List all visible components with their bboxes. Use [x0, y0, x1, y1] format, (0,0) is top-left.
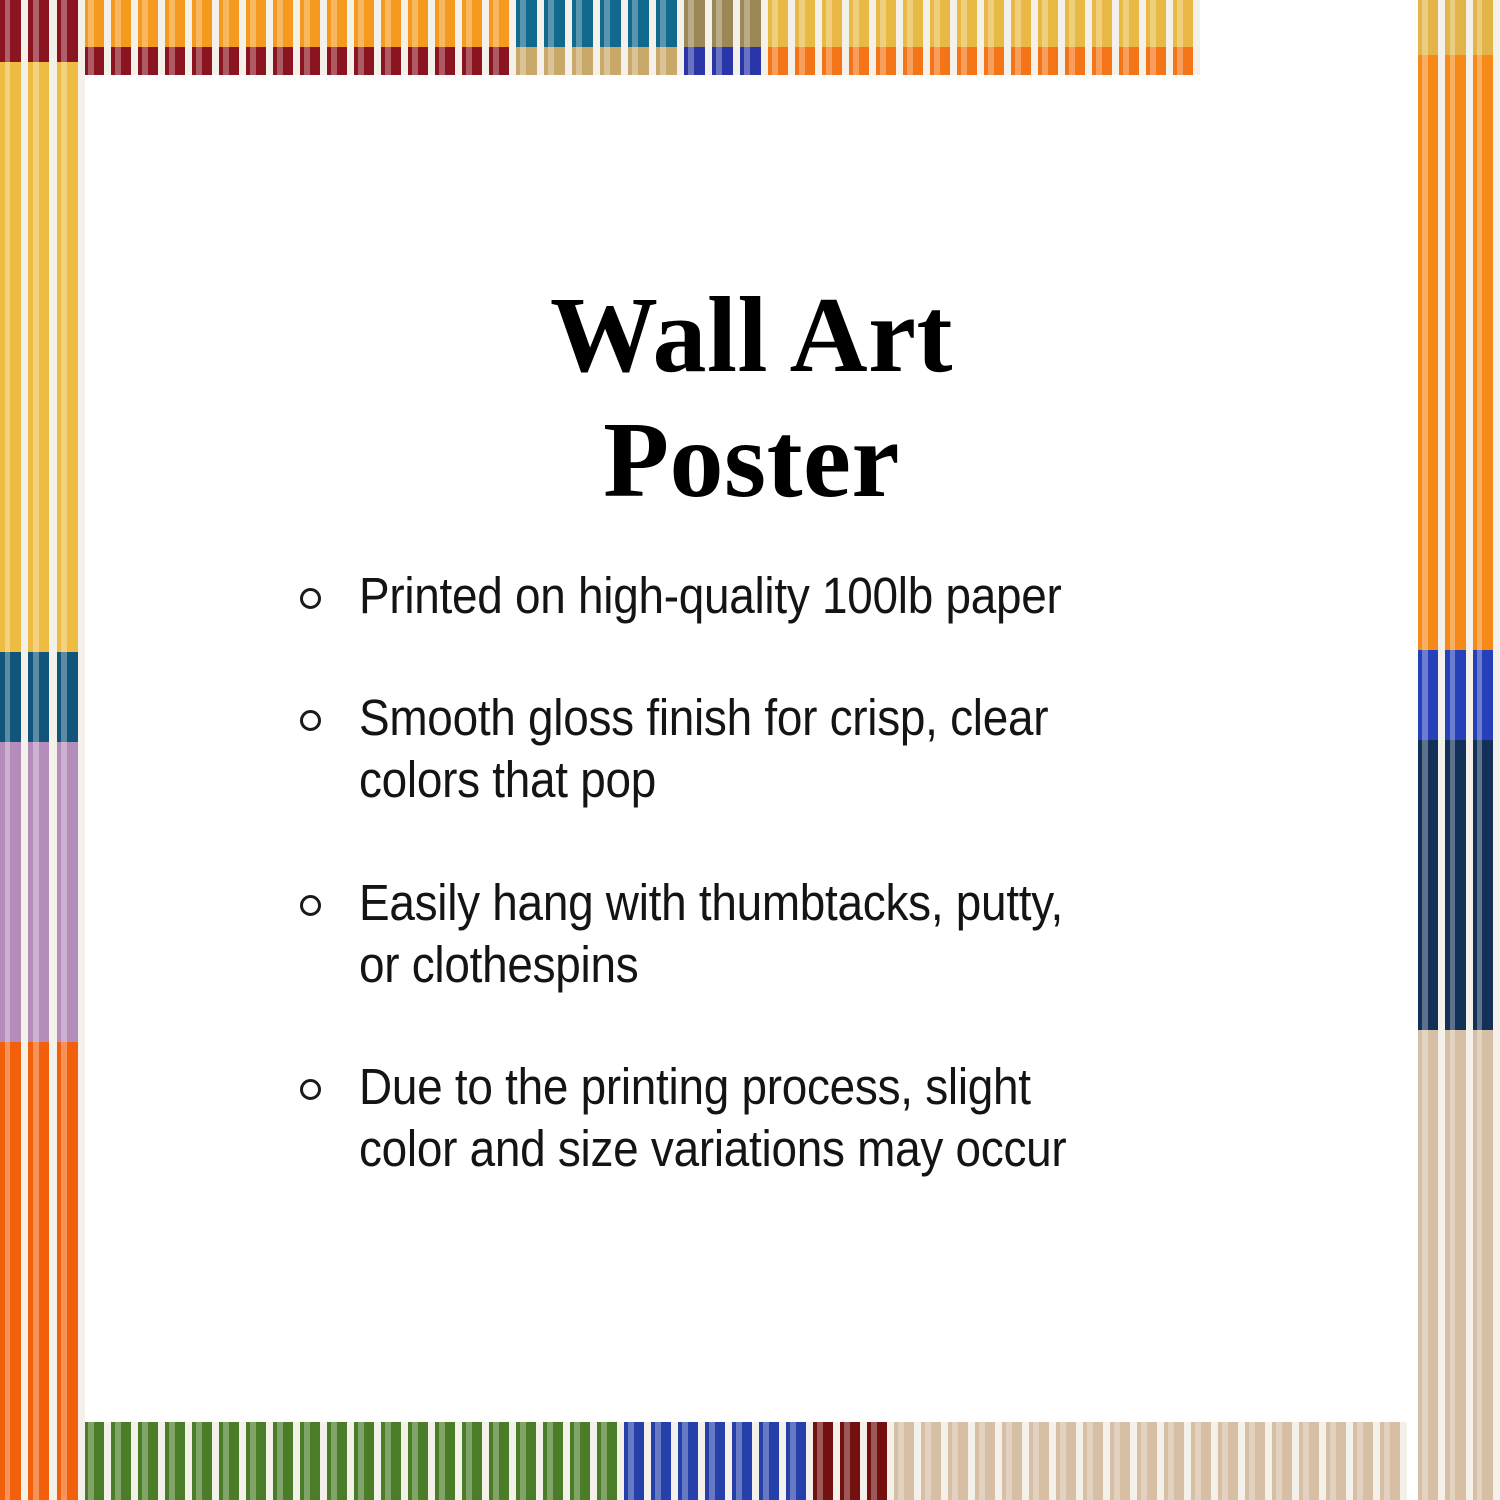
border-pencil-stripe	[462, 1422, 489, 1500]
border-pencil-stripe	[759, 1422, 786, 1500]
border-pencil-stripe	[624, 1422, 651, 1500]
border-stripe-segment	[1418, 0, 1500, 55]
border-pencil-stripe	[1173, 0, 1200, 75]
border-pencil-stripe	[1445, 1030, 1472, 1500]
border-stripe-segment	[0, 1042, 85, 1500]
border-pencil-stripe	[408, 0, 435, 75]
border-pencil-stripe	[1473, 650, 1500, 740]
border-pencil-stripe	[1445, 55, 1472, 650]
border-pencil-stripe	[840, 1422, 867, 1500]
border-pencil-stripe	[678, 1422, 705, 1500]
border-pencil-stripe	[867, 1422, 894, 1500]
border-pencil-stripe	[1326, 1422, 1353, 1500]
border-pencil-stripe	[57, 0, 85, 62]
border-pencil-stripe	[1445, 740, 1472, 1030]
border-pencil-stripe	[516, 0, 544, 75]
border-pencil-stripe	[1146, 0, 1173, 75]
border-pencil-stripe	[1065, 0, 1092, 75]
border-pencil-stripe	[219, 1422, 246, 1500]
title-line-one: Wall Art	[85, 273, 1418, 398]
border-pencil-stripe	[795, 0, 822, 75]
border-pencil-stripe	[1110, 1422, 1137, 1500]
border-pencil-stripe	[57, 1042, 85, 1500]
border-pencil-stripe	[84, 0, 111, 75]
border-pencil-stripe	[273, 1422, 300, 1500]
border-pencil-stripe	[165, 0, 192, 75]
border-pencil-stripe	[1445, 0, 1472, 55]
border-pencil-stripe	[1083, 1422, 1110, 1500]
border-top-pencil-band	[0, 0, 1500, 75]
border-pencil-stripe	[1418, 650, 1445, 740]
feature-text: Easily hang with thumbtacks, putty, or c…	[359, 872, 1063, 996]
border-pencil-stripe	[1245, 1422, 1272, 1500]
border-pencil-stripe	[111, 0, 138, 75]
border-pencil-stripe	[57, 62, 85, 652]
border-pencil-stripe	[327, 1422, 354, 1500]
border-pencil-stripe	[1038, 0, 1065, 75]
border-pencil-stripe	[822, 0, 849, 75]
border-pencil-stripe	[489, 0, 516, 75]
border-pencil-stripe	[712, 0, 740, 75]
list-item: Printed on high-quality 100lb paper	[300, 565, 1338, 627]
border-pencil-stripe	[408, 1422, 435, 1500]
border-pencil-stripe	[28, 652, 56, 742]
border-stripe-segment	[0, 742, 85, 1042]
border-pencil-stripe	[1191, 1422, 1218, 1500]
border-right-stripe-band	[1418, 0, 1500, 1500]
border-pencil-stripe	[1056, 1422, 1083, 1500]
border-pencil-stripe	[957, 0, 984, 75]
border-pencil-stripe	[192, 0, 219, 75]
border-pencil-stripe	[246, 1422, 273, 1500]
border-pencil-stripe	[1445, 650, 1472, 740]
border-pencil-stripe	[1473, 1030, 1500, 1500]
border-pencil-stripe	[300, 0, 327, 75]
border-pencil-stripe	[1418, 55, 1445, 650]
feature-text: Printed on high-quality 100lb paper	[359, 565, 1062, 627]
border-pencil-stripe	[1418, 0, 1445, 55]
border-pencil-stripe	[921, 1422, 948, 1500]
border-stripe-segment	[1418, 650, 1500, 740]
border-pencil-stripe	[600, 0, 628, 75]
border-pencil-stripe	[516, 1422, 543, 1500]
border-pencil-stripe	[28, 62, 56, 652]
border-pencil-stripe	[628, 0, 656, 75]
border-pencil-stripe	[28, 1042, 56, 1500]
border-pencil-stripe	[165, 1422, 192, 1500]
border-pencil-stripe	[570, 1422, 597, 1500]
list-item: Due to the printing process, slight colo…	[300, 1056, 1338, 1180]
feature-text: Due to the printing process, slight colo…	[359, 1056, 1066, 1180]
border-pencil-stripe	[984, 0, 1011, 75]
border-pencil-stripe	[0, 1042, 28, 1500]
border-pencil-stripe	[656, 0, 684, 75]
border-pencil-stripe	[489, 1422, 516, 1500]
border-pencil-stripe	[1473, 740, 1500, 1030]
border-pencil-stripe	[903, 0, 930, 75]
border-pencil-stripe	[435, 0, 462, 75]
border-pencil-stripe	[684, 0, 712, 75]
border-pencil-stripe	[0, 0, 28, 62]
border-pencil-stripe	[1473, 0, 1500, 55]
border-pencil-stripe	[0, 742, 28, 1042]
border-pencil-stripe	[732, 1422, 759, 1500]
product-info-poster: Wall Art Poster Printed on high-quality …	[0, 0, 1500, 1500]
border-pencil-stripe	[930, 0, 957, 75]
bullet-circle-icon	[300, 710, 321, 731]
bullet-circle-icon	[300, 895, 321, 916]
feature-text: Smooth gloss finish for crisp, clear col…	[359, 687, 1048, 811]
border-pencil-stripe	[597, 1422, 624, 1500]
border-pencil-stripe	[381, 1422, 408, 1500]
border-stripe-segment	[1418, 740, 1500, 1030]
border-stripe-segment	[1418, 1030, 1500, 1500]
list-item: Smooth gloss finish for crisp, clear col…	[300, 687, 1338, 811]
border-pencil-stripe	[975, 1422, 1002, 1500]
border-pencil-stripe	[219, 0, 246, 75]
border-stripe-segment	[1418, 55, 1500, 650]
border-pencil-stripe	[273, 0, 300, 75]
border-pencil-stripe	[894, 1422, 921, 1500]
border-pencil-stripe	[84, 1422, 111, 1500]
border-pencil-stripe	[876, 0, 903, 75]
border-pencil-stripe	[705, 1422, 732, 1500]
border-bottom-pencil-band	[0, 1422, 1500, 1500]
title-line-two: Poster	[85, 398, 1418, 523]
border-pencil-stripe	[1418, 740, 1445, 1030]
border-left-stripe-band	[0, 0, 85, 1500]
border-pencil-stripe	[813, 1422, 840, 1500]
border-pencil-stripe	[1272, 1422, 1299, 1500]
feature-list: Printed on high-quality 100lb paperSmoot…	[300, 565, 1338, 1181]
border-pencil-stripe	[1380, 1422, 1407, 1500]
border-pencil-stripe	[57, 652, 85, 742]
border-pencil-stripe	[327, 0, 354, 75]
border-pencil-stripe	[354, 1422, 381, 1500]
content-card: Wall Art Poster Printed on high-quality …	[85, 75, 1418, 1422]
list-item: Easily hang with thumbtacks, putty, or c…	[300, 872, 1338, 996]
bullet-circle-icon	[300, 588, 321, 609]
border-pencil-stripe	[381, 0, 408, 75]
border-pencil-stripe	[1092, 0, 1119, 75]
border-pencil-stripe	[740, 0, 768, 75]
border-pencil-stripe	[1011, 0, 1038, 75]
bullet-circle-icon	[300, 1079, 321, 1100]
border-pencil-stripe	[1299, 1422, 1326, 1500]
border-pencil-stripe	[1473, 55, 1500, 650]
border-pencil-stripe	[768, 0, 795, 75]
border-pencil-stripe	[1218, 1422, 1245, 1500]
border-stripe-segment	[0, 62, 85, 652]
border-pencil-stripe	[192, 1422, 219, 1500]
border-pencil-stripe	[849, 0, 876, 75]
border-pencil-stripe	[651, 1422, 678, 1500]
border-pencil-stripe	[57, 742, 85, 1042]
border-pencil-stripe	[544, 0, 572, 75]
border-pencil-stripe	[1002, 1422, 1029, 1500]
border-pencil-stripe	[1137, 1422, 1164, 1500]
border-pencil-stripe	[948, 1422, 975, 1500]
border-pencil-stripe	[0, 652, 28, 742]
border-pencil-stripe	[28, 742, 56, 1042]
border-pencil-stripe	[1029, 1422, 1056, 1500]
page-title: Wall Art Poster	[85, 273, 1418, 524]
border-pencil-stripe	[354, 0, 381, 75]
border-pencil-stripe	[435, 1422, 462, 1500]
border-pencil-stripe	[1418, 1030, 1445, 1500]
border-pencil-stripe	[138, 1422, 165, 1500]
border-pencil-stripe	[111, 1422, 138, 1500]
border-pencil-stripe	[138, 0, 165, 75]
border-pencil-stripe	[300, 1422, 327, 1500]
border-pencil-stripe	[1119, 0, 1146, 75]
border-pencil-stripe	[543, 1422, 570, 1500]
border-pencil-stripe	[246, 0, 273, 75]
border-pencil-stripe	[462, 0, 489, 75]
border-pencil-stripe	[1164, 1422, 1191, 1500]
border-stripe-segment	[0, 652, 85, 742]
border-pencil-stripe	[1353, 1422, 1380, 1500]
border-pencil-stripe	[786, 1422, 813, 1500]
border-pencil-stripe	[572, 0, 600, 75]
border-stripe-segment	[0, 0, 85, 62]
border-pencil-stripe	[28, 0, 56, 62]
border-pencil-stripe	[0, 62, 28, 652]
